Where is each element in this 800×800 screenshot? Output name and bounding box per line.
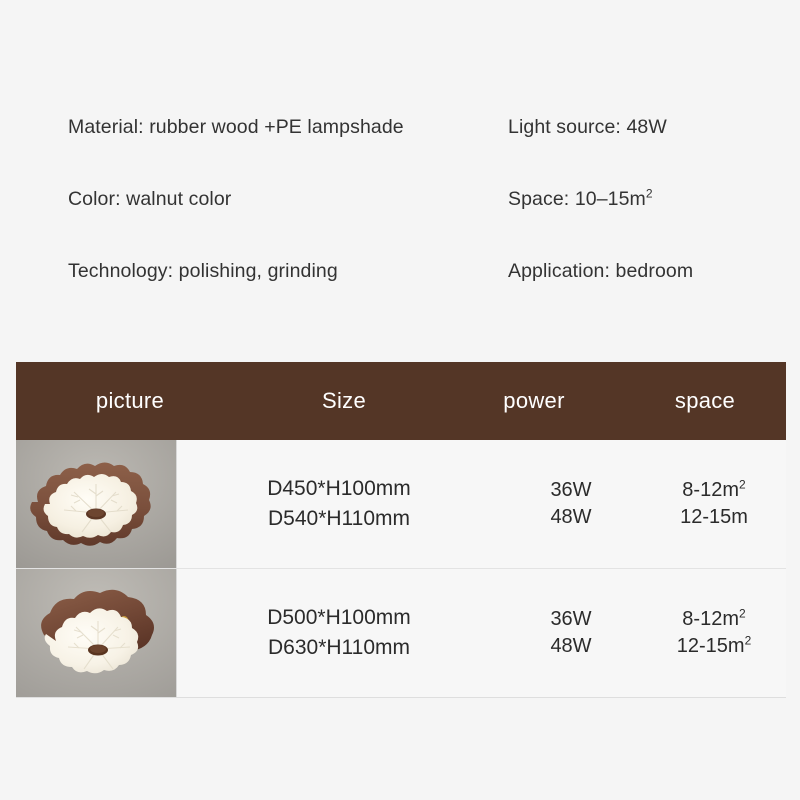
table-row: D450*H100mm D540*H110mm 36W 48W 8-12m2 1…: [16, 440, 786, 569]
spec-application: Application: bedroom: [508, 256, 693, 286]
spec-technology: Technology: polishing, grinding: [68, 256, 338, 286]
space-line-1-text: 8-12m: [682, 479, 739, 501]
space-value: 8-12m2 12-15m2: [649, 606, 779, 660]
space-line-1-text: 8-12m: [682, 608, 739, 630]
row-text-cell: D500*H100mm D630*H110mm 36W 48W 8-12m2 1…: [177, 569, 786, 697]
power-value: 36W 48W: [511, 606, 631, 660]
size-line-1: D500*H100mm: [205, 603, 473, 633]
space-line-2: 12-15m2: [649, 633, 779, 660]
table-header-row: picture Size power space: [16, 362, 786, 440]
space-line-1: 8-12m2: [649, 606, 779, 633]
power-line-2: 48W: [511, 633, 631, 660]
table-row: D500*H100mm D630*H110mm 36W 48W 8-12m2 1…: [16, 569, 786, 698]
row-text-cell: D450*H100mm D540*H110mm 36W 48W 8-12m2 1…: [177, 440, 786, 568]
product-image-cell: [16, 440, 177, 568]
power-value: 36W 48W: [511, 477, 631, 531]
lamp-illustration-icon: [16, 440, 176, 568]
lamp-illustration-icon: [16, 569, 176, 697]
spec-material: Material: rubber wood +PE lampshade: [68, 112, 404, 142]
table-header-picture: picture: [16, 388, 244, 414]
space-line-2-superscript: 2: [745, 633, 752, 647]
power-line-1: 36W: [511, 477, 631, 504]
spec-space-superscript: 2: [646, 187, 653, 201]
spec-row: Technology: polishing, grinding Applicat…: [0, 256, 800, 328]
power-line-2: 48W: [511, 504, 631, 531]
specification-block: Material: rubber wood +PE lampshade Ligh…: [0, 112, 800, 328]
spec-space: Space: 10–15m2: [508, 184, 653, 214]
size-line-2: D630*H110mm: [205, 633, 473, 663]
spec-application-text: Application: bedroom: [508, 260, 693, 282]
space-line-2: 12-15m: [649, 504, 779, 531]
spec-row: Material: rubber wood +PE lampshade Ligh…: [0, 112, 800, 184]
spec-light-source-text: Light source: 48W: [508, 116, 667, 138]
spec-space-text: Space: 10–15m: [508, 188, 646, 210]
space-line-1: 8-12m2: [649, 477, 779, 504]
space-value: 8-12m2 12-15m: [649, 477, 779, 531]
size-value: D500*H100mm D630*H110mm: [205, 603, 473, 663]
size-value: D450*H100mm D540*H110mm: [205, 474, 473, 534]
power-line-1: 36W: [511, 606, 631, 633]
spec-light-source: Light source: 48W: [508, 112, 667, 142]
space-line-2-text: 12-15m: [677, 635, 745, 657]
product-image-cell: [16, 569, 177, 697]
size-line-2: D540*H110mm: [205, 504, 473, 534]
size-line-1: D450*H100mm: [205, 474, 473, 504]
spec-row: Color: walnut color Space: 10–15m2: [0, 184, 800, 256]
table-header-space: space: [624, 388, 786, 414]
space-line-2-text: 12-15m: [680, 506, 748, 528]
space-line-1-superscript: 2: [739, 606, 746, 620]
cloud-ceiling-lamp-front-image: [16, 440, 176, 568]
space-line-1-superscript: 2: [739, 477, 746, 491]
cloud-ceiling-lamp-angled-image: [16, 569, 176, 697]
spec-color: Color: walnut color: [68, 184, 231, 214]
table-header-size: Size: [244, 388, 444, 414]
table-header-power: power: [444, 388, 624, 414]
product-spec-table: picture Size power space: [16, 362, 786, 698]
